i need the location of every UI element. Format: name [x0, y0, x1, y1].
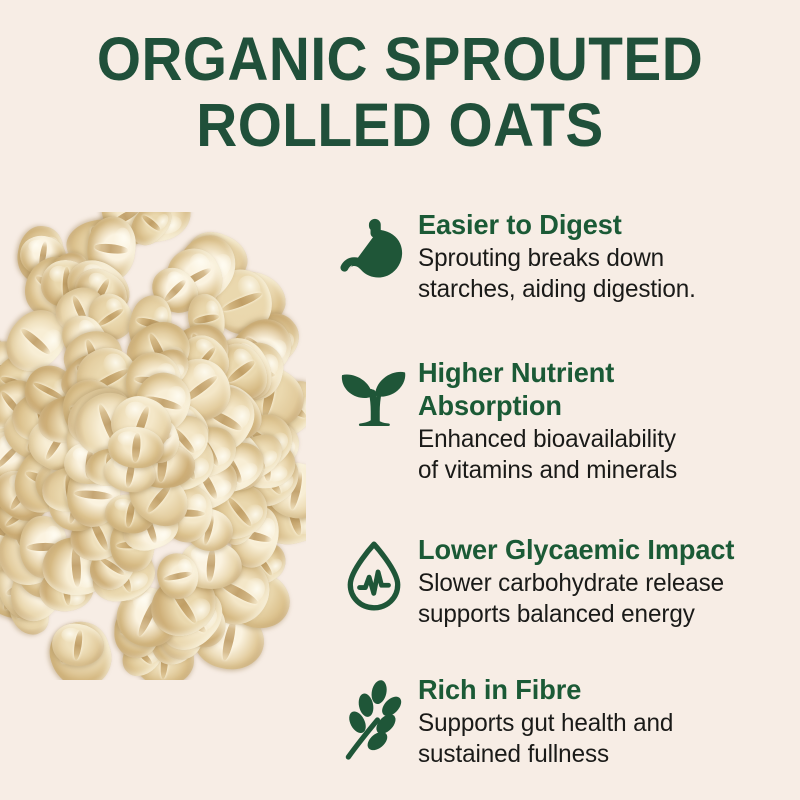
benefit-body: Supports gut health and sustained fullne… [418, 708, 789, 770]
benefit-item-rich-in-fibre: Rich in Fibre Supports gut health and su… [330, 671, 800, 770]
benefit-body: Enhanced bioavailability of vitamins and… [418, 424, 789, 486]
benefit-item-easier-to-digest: Easier to Digest Sprouting breaks down s… [330, 206, 800, 305]
benefit-item-higher-nutrient-absorption: Higher Nutrient Absorption Enhanced bioa… [330, 354, 800, 486]
benefit-heading: Higher Nutrient Absorption [418, 356, 789, 422]
rolled-oats-photo [0, 212, 306, 680]
benefit-heading: Rich in Fibre [418, 673, 789, 706]
benefit-body: Sprouting breaks down starches, aiding d… [418, 243, 789, 305]
benefit-text-higher-nutrient-absorption: Higher Nutrient Absorption Enhanced bioa… [418, 354, 800, 486]
benefit-heading: Lower Glycaemic Impact [418, 533, 789, 566]
title-line-2: ROLLED OATS [28, 92, 772, 158]
benefit-heading: Easier to Digest [418, 208, 789, 241]
sprout-icon [330, 354, 418, 440]
benefit-item-lower-glycaemic-impact: Lower Glycaemic Impact Slower carbohydra… [330, 531, 800, 630]
page-title: ORGANIC SPROUTED ROLLED OATS [0, 26, 800, 158]
oat-flake-cluster [0, 212, 306, 680]
wheat-stalk-icon [330, 671, 418, 757]
benefit-text-lower-glycaemic-impact: Lower Glycaemic Impact Slower carbohydra… [418, 531, 800, 630]
water-drop-pulse-icon [330, 531, 418, 617]
title-line-1: ORGANIC SPROUTED [28, 26, 772, 92]
stomach-icon [330, 206, 418, 292]
benefit-text-easier-to-digest: Easier to Digest Sprouting breaks down s… [418, 206, 800, 305]
benefit-text-rich-in-fibre: Rich in Fibre Supports gut health and su… [418, 671, 800, 770]
benefit-body: Slower carbohydrate release supports bal… [418, 568, 789, 630]
